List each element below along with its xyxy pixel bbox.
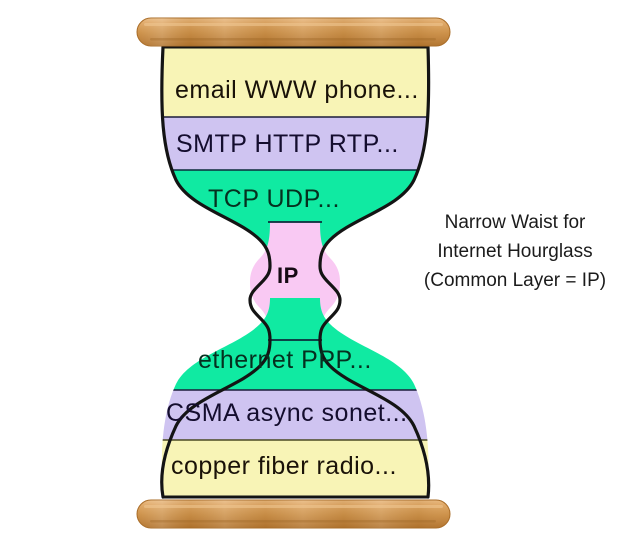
annotation-line-2: Internet Hourglass [406,237,624,266]
annotation-line-3: (Common Layer = IP) [406,266,624,295]
wooden-cap-bottom [137,500,450,528]
hourglass-diagram: email WWW phone... SMTP HTTP RTP... TCP … [0,0,640,543]
narrow-waist-annotation: Narrow Waist for Internet Hourglass (Com… [406,208,624,295]
lower-bulb-bands [150,290,450,510]
band-application [150,40,450,117]
annotation-line-1: Narrow Waist for [406,208,624,237]
band-app-protocols [150,117,450,170]
wooden-cap-top [137,18,450,46]
